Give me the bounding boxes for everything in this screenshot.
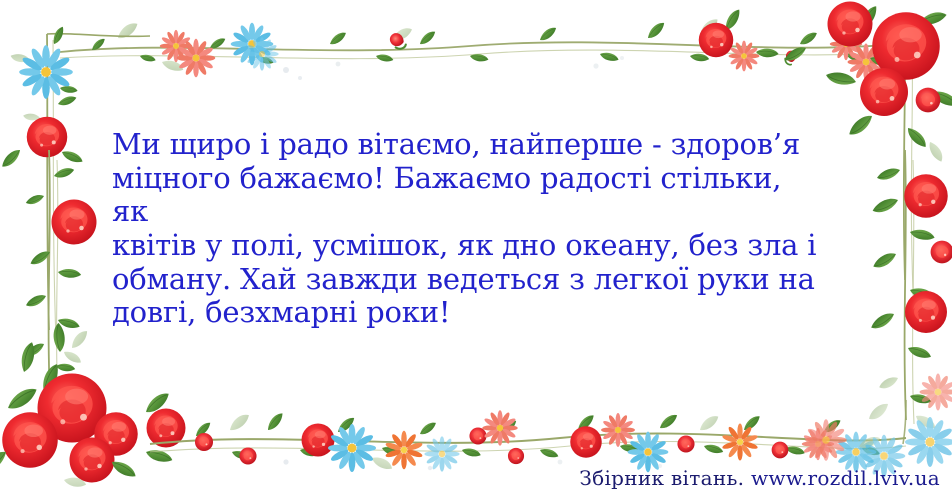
greeting-card: Ми щиро і радо вітаємо, найперше - здоро… — [0, 0, 952, 496]
corner-cluster-bottom-left — [0, 322, 185, 490]
greeting-message: Ми щиро і радо вітаємо, найперше - здоро… — [112, 128, 824, 330]
corner-cluster-bottom-right — [805, 374, 952, 478]
bottom-border-vine — [150, 410, 906, 473]
watermark-label: Збірник вітань. — [579, 466, 744, 490]
left-border-vine — [24, 150, 96, 404]
watermark: Збірник вітань. www.rozdil.lviv.ua — [579, 466, 940, 490]
watermark-site-url: www.rozdil.lviv.ua — [751, 466, 940, 490]
right-border-vine — [868, 150, 952, 424]
top-border-vine — [60, 8, 933, 81]
